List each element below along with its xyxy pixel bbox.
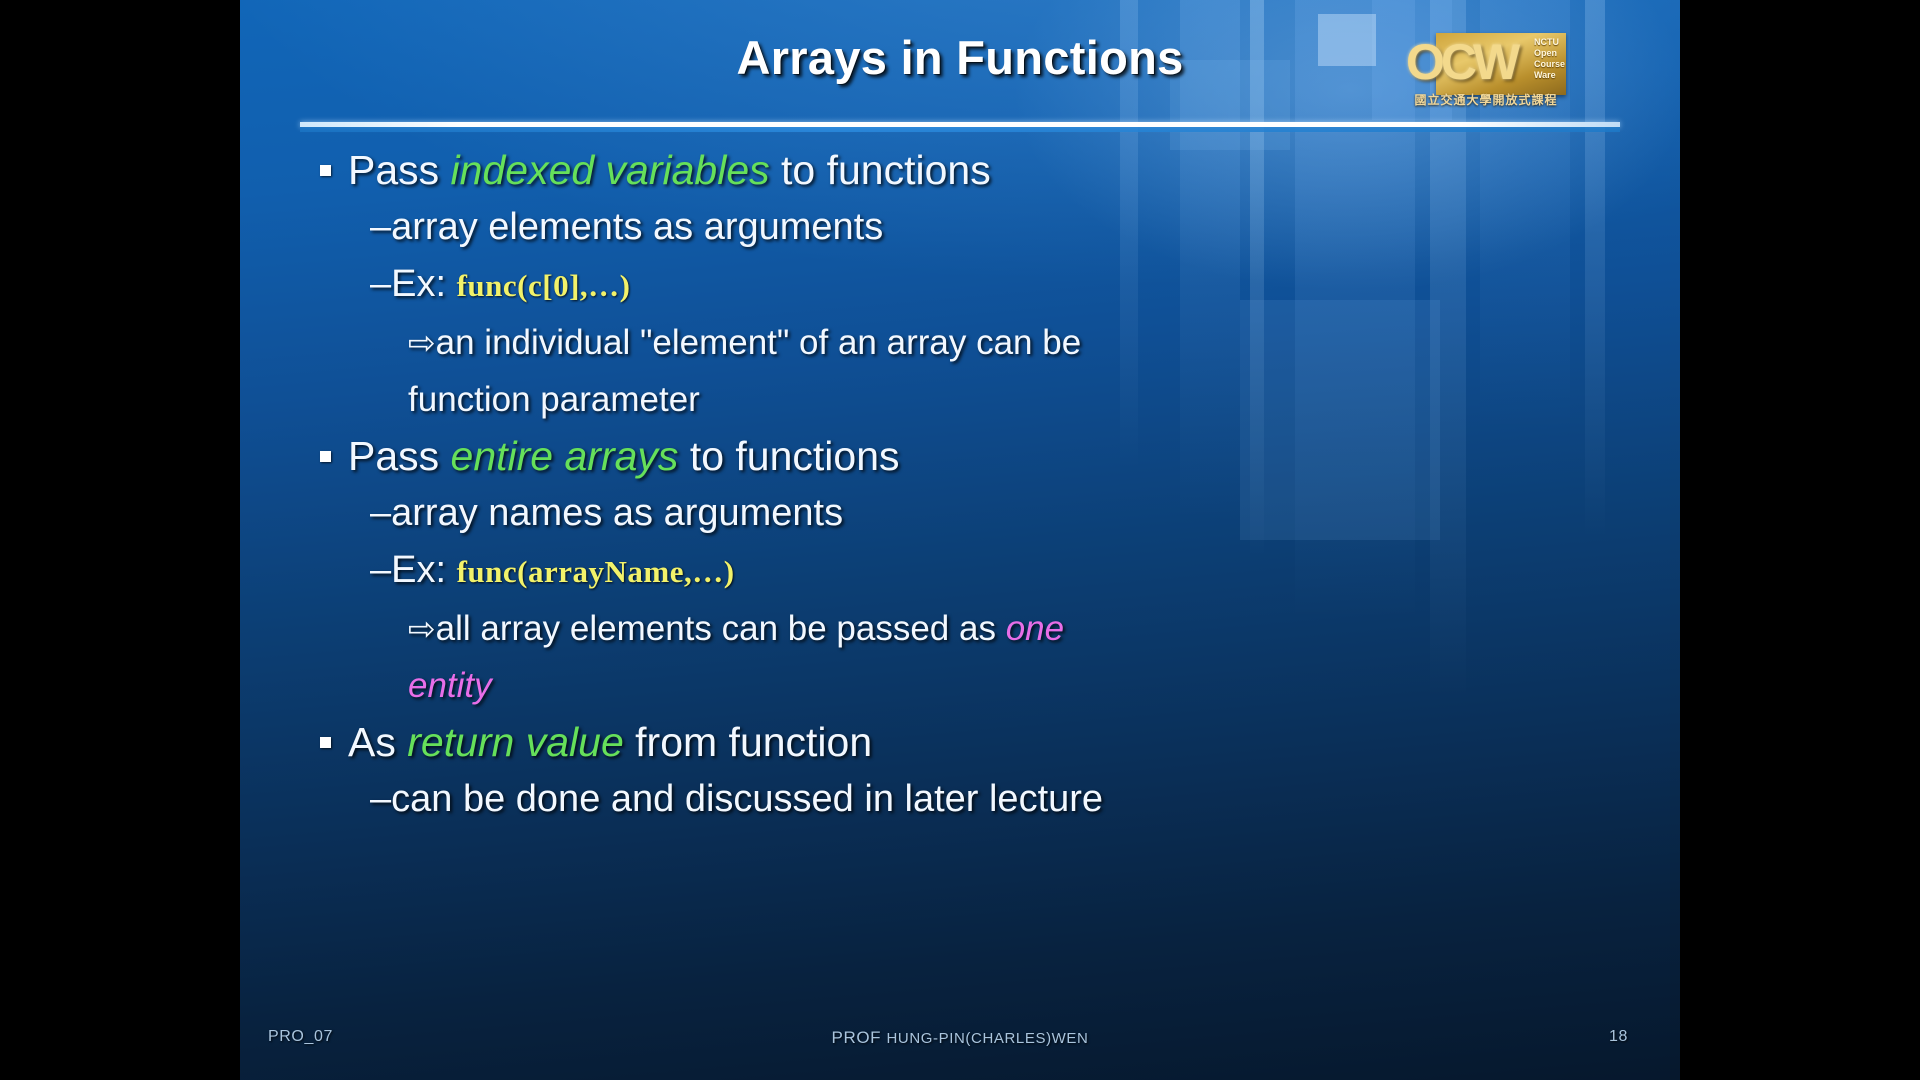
- bullet-text: to functions: [770, 147, 991, 193]
- bullet-text: from function: [624, 719, 872, 765]
- dash-bullet-icon: –: [370, 263, 391, 305]
- bullet-text: Ex:: [391, 263, 456, 305]
- dash-bullet-icon: –: [370, 492, 391, 534]
- bullet-text: can be done and discussed in later lectu…: [391, 778, 1103, 820]
- emphasis-text: entire arrays: [451, 433, 679, 479]
- bullet-text: function parameter: [408, 380, 700, 419]
- bullet-text: Ex:: [391, 549, 456, 591]
- footer-page-number: 18: [1609, 1028, 1628, 1046]
- bullet-text: an individual "element" of an array can …: [436, 323, 1082, 362]
- bullet-line-level-3: ⇨an individual "element" of an array can…: [240, 314, 1680, 371]
- slide-footer: PRO_07 PROF HUNG-PIN(CHARLES)WEN 18: [240, 1028, 1680, 1054]
- right-arrow-bullet-icon: ⇨: [408, 323, 436, 362]
- bullet-line-level-2: –array elements as arguments: [240, 199, 1680, 256]
- bullet-line-level-2: –Ex: func(arrayName,…): [240, 542, 1680, 600]
- ocw-logo: OCW NCTU Open Course Ware 國立交通大學開放式課程: [1406, 25, 1566, 115]
- bullet-text: array names as arguments: [391, 492, 843, 534]
- logo-subtitle-en: NCTU Open Course Ware: [1534, 37, 1574, 81]
- dash-bullet-icon: –: [370, 778, 391, 820]
- emphasis-text: return value: [407, 719, 624, 765]
- letterbox-left: [0, 0, 240, 1080]
- code-snippet: func(arrayName,…): [457, 554, 735, 589]
- bullet-line-level-3: ⇨all array elements can be passed as one: [240, 600, 1680, 657]
- emphasis-text: one: [1006, 609, 1064, 648]
- bullet-line-level-3: entity: [240, 657, 1680, 714]
- square-bullet-icon: [320, 165, 331, 176]
- code-snippet: func(c[0],…): [457, 268, 631, 303]
- bullet-text: As: [348, 719, 407, 765]
- emphasis-text: entity: [408, 666, 492, 705]
- dash-bullet-icon: –: [370, 206, 391, 248]
- bullet-text: Pass: [348, 433, 451, 479]
- bullet-text: to functions: [678, 433, 899, 479]
- footer-instructor-name: HUNG-PIN(CHARLES)WEN: [886, 1030, 1088, 1047]
- bullet-line-level-1: Pass entire arrays to functions: [240, 428, 1680, 485]
- logo-subtitle-cjk: 國立交通大學開放式課程: [1402, 91, 1570, 108]
- dash-bullet-icon: –: [370, 549, 391, 591]
- presentation-slide: Arrays in Functions OCW NCTU Open Course…: [240, 0, 1680, 1080]
- logo-wordmark: OCW: [1406, 33, 1536, 93]
- bullet-line-level-2: –can be done and discussed in later lect…: [240, 771, 1680, 828]
- screen: Arrays in Functions OCW NCTU Open Course…: [0, 0, 1920, 1080]
- bullet-line-level-2: –Ex: func(c[0],…): [240, 256, 1680, 314]
- square-bullet-icon: [320, 737, 331, 748]
- bullet-text: all array elements can be passed as: [436, 609, 1006, 648]
- bullet-line-level-1: Pass indexed variables to functions: [240, 142, 1680, 199]
- footer-instructor: PROF HUNG-PIN(CHARLES)WEN: [240, 1028, 1680, 1048]
- square-bullet-icon: [320, 451, 331, 462]
- right-arrow-bullet-icon: ⇨: [408, 609, 436, 648]
- emphasis-text: indexed variables: [451, 147, 770, 193]
- footer-instructor-prefix: PROF: [832, 1028, 887, 1047]
- title-divider: [300, 122, 1620, 132]
- bullet-line-level-1: As return value from function: [240, 714, 1680, 771]
- divider-shadow: [300, 127, 1620, 132]
- slide-body: Pass indexed variables to functions–arra…: [240, 142, 1680, 828]
- bullet-line-level-2: –array names as arguments: [240, 485, 1680, 542]
- bullet-text: array elements as arguments: [391, 206, 883, 248]
- bullet-line-level-3: function parameter: [240, 371, 1680, 428]
- bullet-text: Pass: [348, 147, 451, 193]
- letterbox-right: [1680, 0, 1920, 1080]
